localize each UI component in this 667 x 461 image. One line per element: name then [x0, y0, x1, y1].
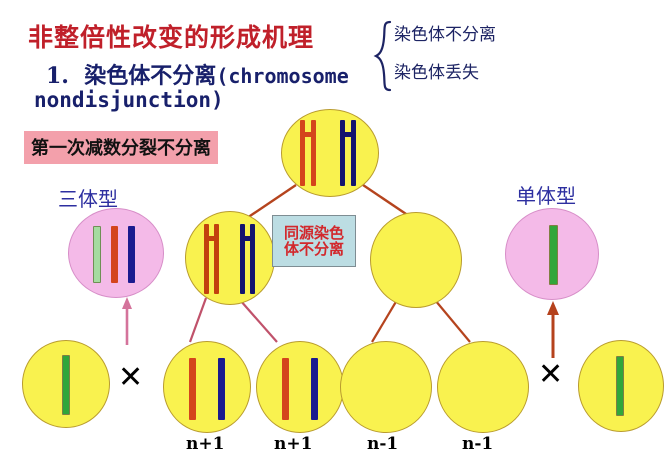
annotation-line-1: 同源染色 [284, 225, 344, 242]
chromatid-blue-1 [240, 224, 245, 294]
parent-cell [281, 109, 379, 197]
ploidy-label-3: n-1 [462, 434, 493, 454]
chromosome-red [282, 358, 289, 420]
chromosome-blue [311, 358, 318, 420]
chromosome-green-right [616, 356, 624, 416]
centromere-blue [344, 132, 353, 137]
chromatid-red-2 [214, 224, 219, 294]
cross-symbol-left: ✕ [118, 363, 143, 393]
chromatid-red-1 [204, 224, 209, 294]
chromatid-blue-2 [250, 224, 255, 294]
chromosome-green [62, 355, 70, 415]
centromere-blue [243, 236, 252, 241]
gamete-1 [163, 341, 251, 433]
trisomy-zygote [68, 208, 164, 298]
centromere-red [207, 236, 216, 241]
chromosome-green [549, 225, 558, 285]
chromosome-red [189, 358, 196, 420]
ploidy-label-0: n+1 [186, 434, 224, 454]
normal-gamete-left [22, 340, 110, 428]
monosomy-zygote [505, 208, 599, 300]
chromosome-blue [128, 226, 135, 283]
chromatid-red-1 [300, 120, 305, 186]
gamete-2 [256, 341, 344, 433]
secondary-cell-right [370, 212, 462, 308]
secondary-cell-left [185, 211, 275, 305]
annotation-box: 同源染色 体不分离 [272, 215, 356, 267]
gamete-3 [340, 341, 432, 433]
cross-symbol-right: ✕ [538, 360, 563, 390]
diagram-canvas: 非整倍性改变的形成机理 1. 染色体不分离(chromosome nondisj… [0, 0, 667, 461]
chromatid-blue-2 [351, 120, 356, 186]
gamete-4 [437, 341, 529, 433]
chromosome-green [93, 226, 101, 283]
chromatid-red-2 [311, 120, 316, 186]
centromere-red [304, 132, 313, 137]
annotation-line-2: 体不分离 [284, 241, 344, 258]
chromatid-blue-1 [340, 120, 345, 186]
chromosome-red [111, 226, 118, 283]
chromosome-blue [218, 358, 225, 420]
ploidy-label-2: n-1 [367, 434, 398, 454]
ploidy-label-1: n+1 [274, 434, 312, 454]
